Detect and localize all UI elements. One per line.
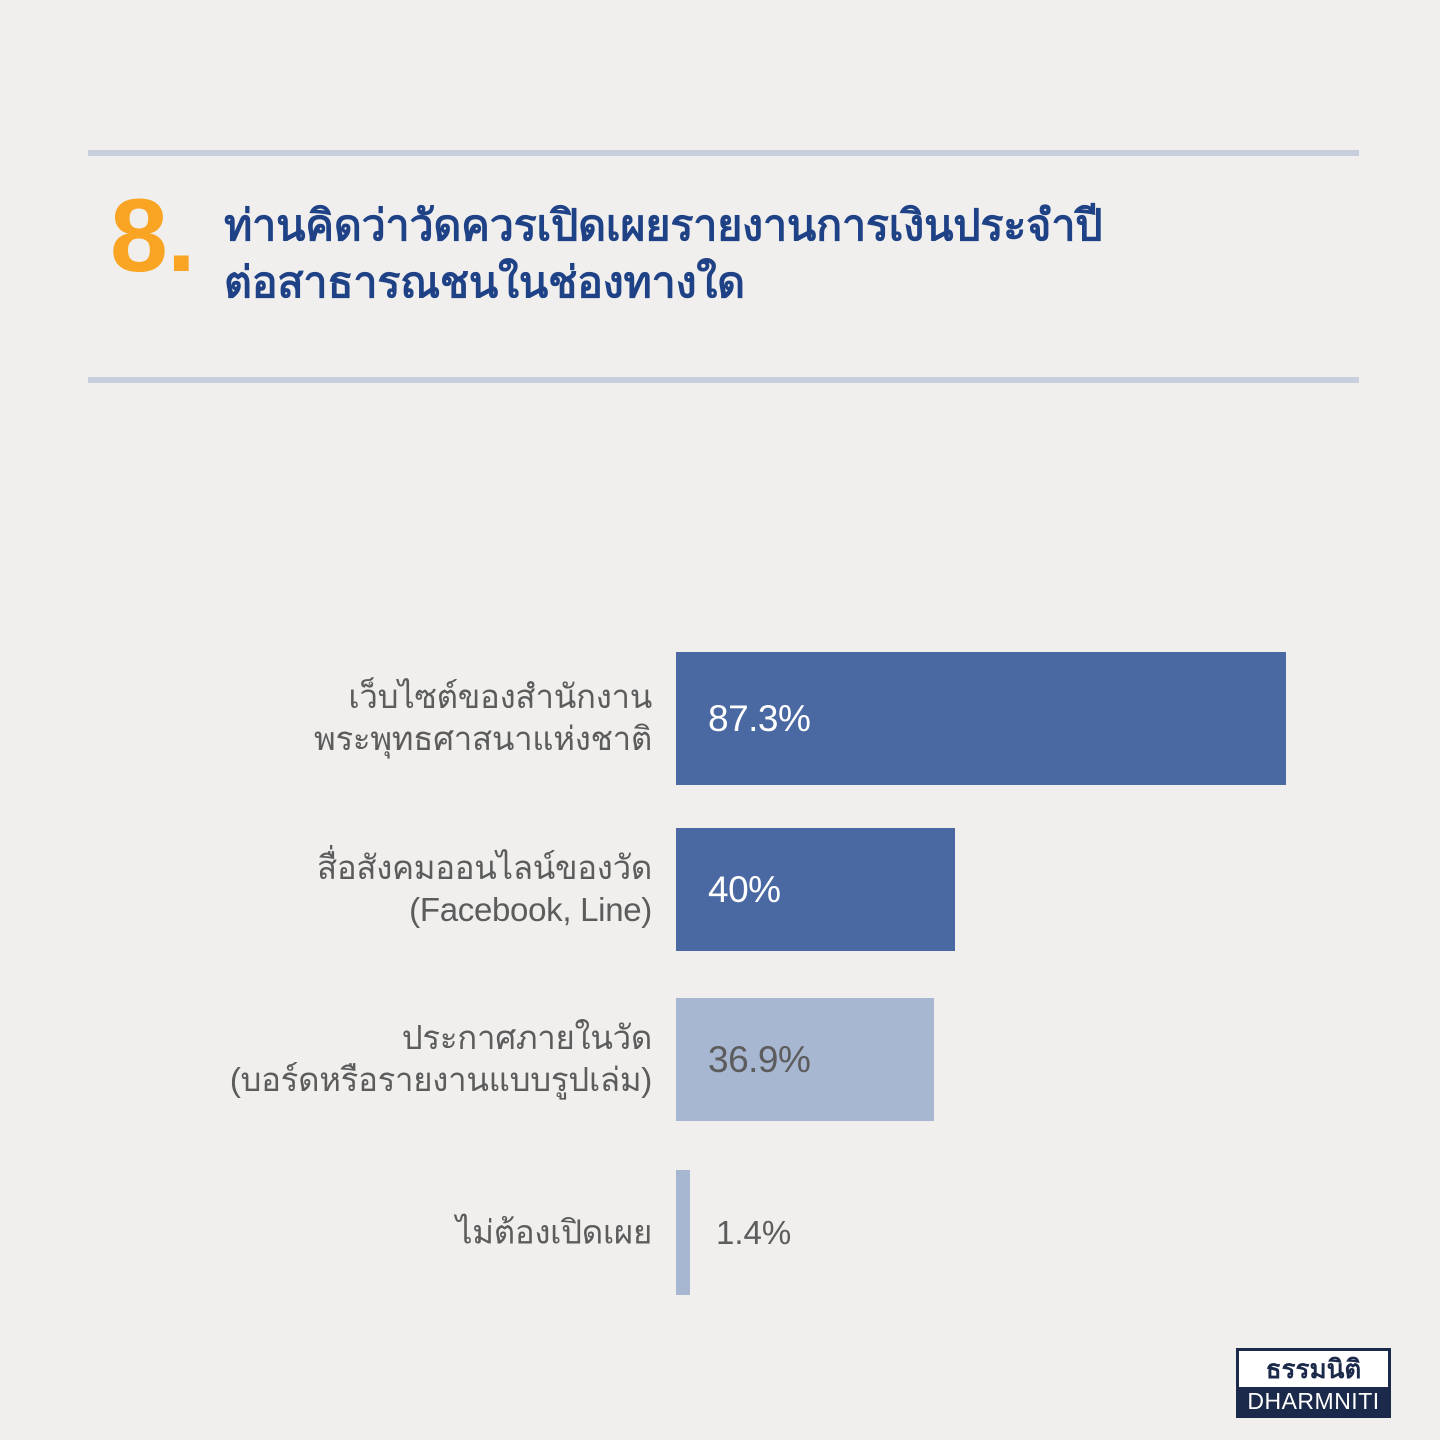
bar-row: ไม่ต้องเปิดเผย1.4% (0, 1170, 1440, 1295)
bar-category-label: ไม่ต้องเปิดเผย (92, 1211, 652, 1254)
bar-row: เว็บไซต์ของสำนักงานพระพุทธศาสนาแห่งชาติ8… (0, 652, 1440, 785)
bar-category-label-line-2: (Facebook, Line) (92, 890, 652, 933)
header-top-divider (88, 150, 1359, 156)
bar-segment: 40% (676, 828, 955, 951)
bar-track: 40% (676, 828, 955, 951)
bar-category-label: เว็บไซต์ของสำนักงานพระพุทธศาสนาแห่งชาติ (92, 676, 652, 762)
bar-track: 87.3% (676, 652, 1286, 785)
bar-category-label-line-1: สื่อสังคมออนไลน์ของวัด (92, 847, 652, 890)
bar-category-label: ประกาศภายในวัด(บอร์ดหรือรายงานแบบรูปเล่ม… (92, 1017, 652, 1103)
dharmniti-logo: ธรรมนิติ DHARMNITI (1236, 1348, 1391, 1418)
bar-value-label: 36.9% (676, 1039, 810, 1081)
page-title-line-2: ต่อสาธารณชนในช่องทางใด (224, 255, 1359, 312)
bar-category-label-line-2: พระพุทธศาสนาแห่งชาติ (92, 719, 652, 762)
page-title-line-1: ท่านคิดว่าวัดควรเปิดเผยรายงานการเงินประจ… (224, 198, 1359, 255)
bar-category-label-line-1: เว็บไซต์ของสำนักงาน (92, 676, 652, 719)
question-number: 8. (88, 186, 224, 287)
bar-category-label-line-1: ไม่ต้องเปิดเผย (92, 1211, 652, 1254)
header-bottom-divider (88, 377, 1359, 383)
header: 8. ท่านคิดว่าวัดควรเปิดเผยรายงานการเงินป… (88, 186, 1359, 366)
bar-segment: 36.9% (676, 998, 934, 1121)
bar-value-label: 40% (676, 869, 781, 911)
bar-segment (676, 1170, 690, 1295)
bar-value-label: 87.3% (676, 698, 810, 740)
bar-category-label: สื่อสังคมออนไลน์ของวัด(Facebook, Line) (92, 847, 652, 933)
bar-segment: 87.3% (676, 652, 1286, 785)
logo-thai-text: ธรรมนิติ (1239, 1351, 1388, 1387)
bar-row: สื่อสังคมออนไลน์ของวัด(Facebook, Line)40… (0, 828, 1440, 951)
bar-track: 36.9% (676, 998, 934, 1121)
bar-value-label: 1.4% (690, 1214, 791, 1252)
bar-category-label-line-1: ประกาศภายในวัด (92, 1017, 652, 1060)
bar-track: 1.4% (676, 1170, 791, 1295)
bar-chart: เว็บไซต์ของสำนักงานพระพุทธศาสนาแห่งชาติ8… (0, 630, 1440, 1320)
logo-english-text: DHARMNITI (1239, 1387, 1388, 1415)
bar-row: ประกาศภายในวัด(บอร์ดหรือรายงานแบบรูปเล่ม… (0, 998, 1440, 1121)
infographic-page: 8. ท่านคิดว่าวัดควรเปิดเผยรายงานการเงินป… (0, 0, 1440, 1440)
page-title: ท่านคิดว่าวัดควรเปิดเผยรายงานการเงินประจ… (224, 186, 1359, 312)
bar-category-label-line-2: (บอร์ดหรือรายงานแบบรูปเล่ม) (92, 1060, 652, 1103)
